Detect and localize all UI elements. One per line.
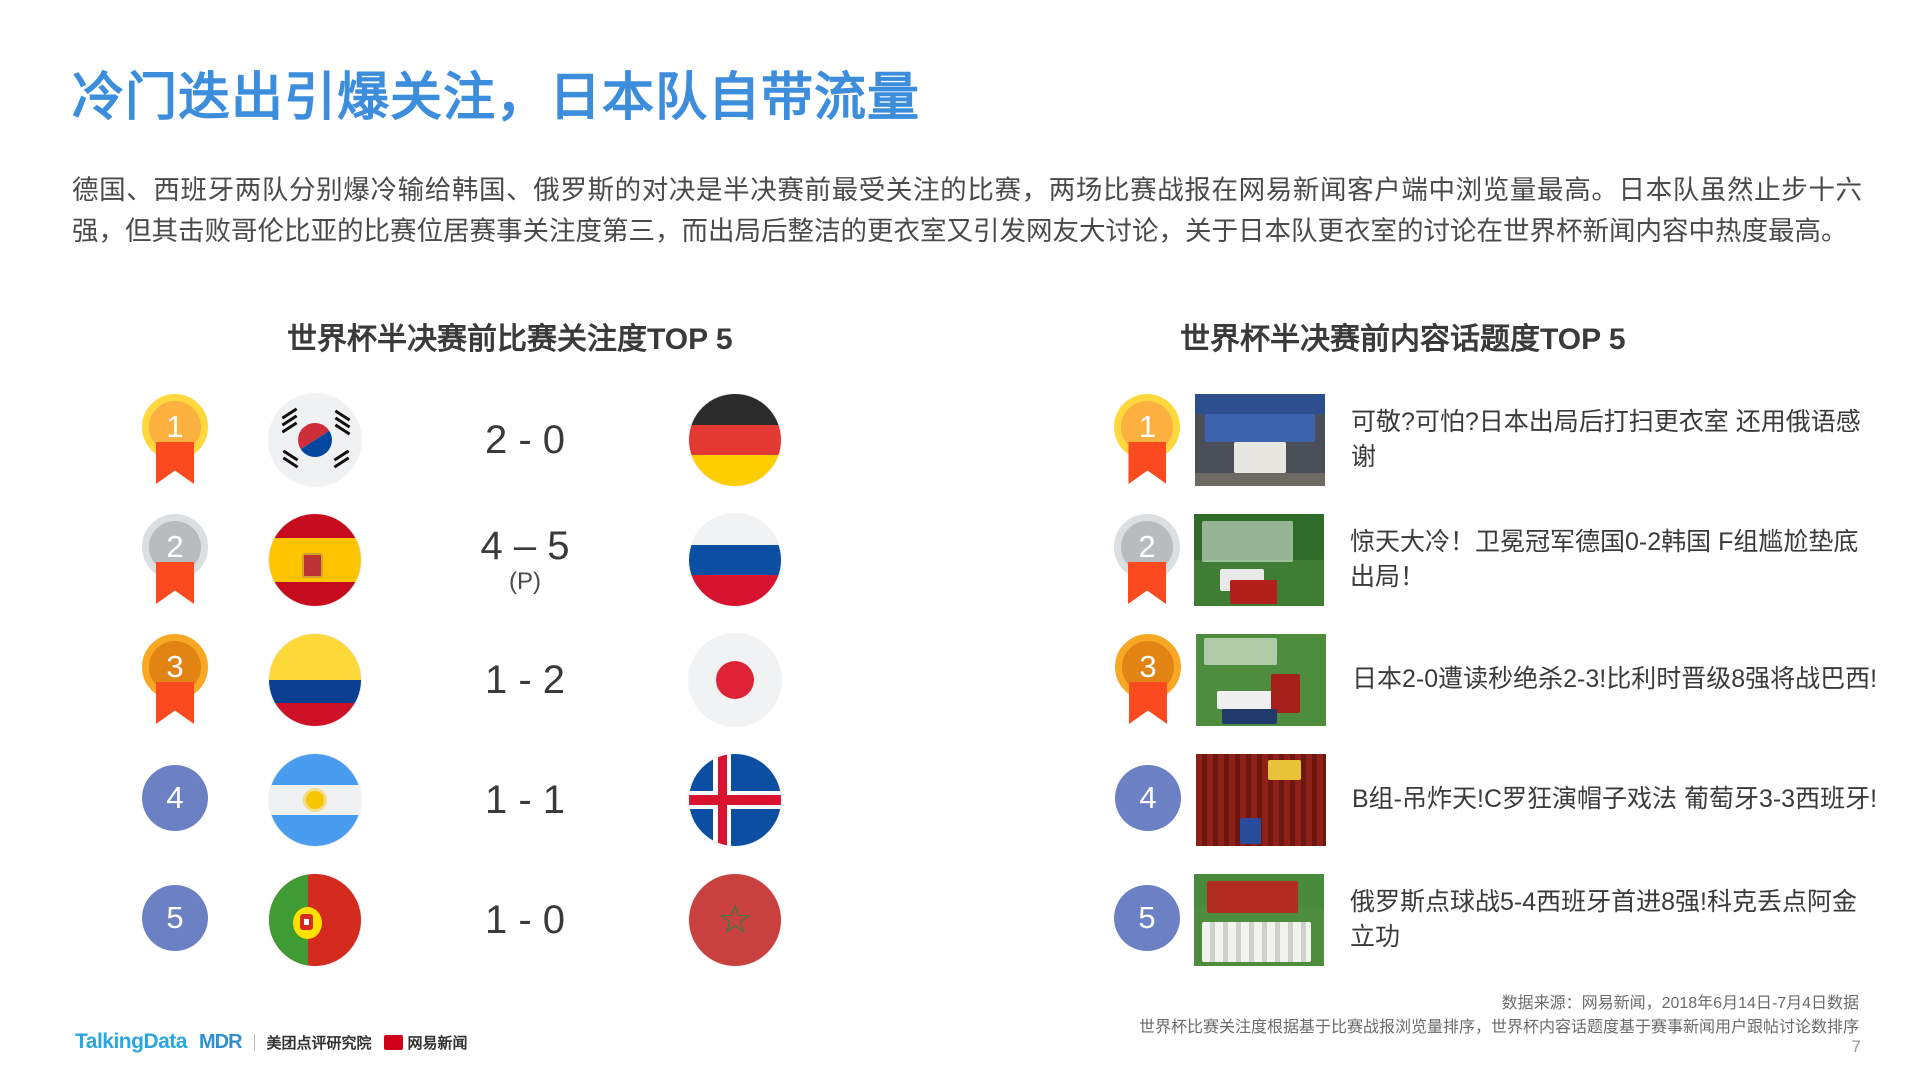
source-line-1: 数据来源：网易新闻，2018年6月14日-7月4日数据 [1139, 992, 1859, 1016]
rank-cell: 5 [1100, 885, 1194, 955]
list-item[interactable]: 5 俄罗斯点球战5-4西班牙首进8强!科克丢点阿金立功 [1100, 860, 1880, 980]
news-thumbnail-players-on-ground[interactable] [1196, 634, 1326, 726]
list-item[interactable]: 2 惊天大冷！卫冕冠军德国0-2韩国 F组尴尬垫底出局！ [1100, 500, 1880, 620]
netease-news-label: 网易新闻 [408, 1032, 468, 1053]
rank-number: 4 [142, 765, 208, 831]
news-thumbnail-team-celebration[interactable] [1194, 874, 1324, 966]
rank-badge-5: 5 [142, 885, 208, 955]
rank-cell: 4 [120, 765, 230, 835]
table-row: 4 1 - 1 [120, 740, 940, 860]
score-cell: 1 - 2 [400, 659, 650, 701]
rank-cell: 2 [1100, 514, 1194, 606]
score-cell: 1 - 1 [400, 779, 650, 821]
score-cell: 4 – 5 (P) [400, 525, 650, 594]
right-column-title: 世界杯半决赛前内容话题度TOP 5 [1180, 314, 1626, 358]
medal-gold-icon: 1 [142, 394, 208, 486]
flag-morocco-icon: ☆ [689, 874, 781, 966]
talkingdata-logo: TalkingData [75, 1030, 187, 1054]
home-flag-cell [230, 874, 400, 966]
rank-cell: 1 [120, 394, 230, 486]
news-title[interactable]: 可敬?可怕?日本出局后打扫更衣室 还用俄语感谢 [1351, 405, 1880, 476]
rank-badge-4: 4 [142, 765, 208, 835]
score-value: 1 - 1 [485, 778, 565, 822]
rank-number: 5 [1114, 885, 1180, 951]
meituan-research-label: 美团点评研究院 [267, 1032, 372, 1053]
flag-japan-icon [689, 634, 781, 726]
rank-cell: 3 [120, 634, 230, 726]
medal-bronze-icon: 3 [142, 634, 208, 726]
spain-crest [302, 553, 323, 578]
rank-number: 5 [142, 885, 208, 951]
rank-cell: 5 [120, 885, 230, 955]
score-note: (P) [400, 569, 650, 594]
rank-number: 4 [1115, 765, 1181, 831]
away-flag-cell [650, 514, 820, 606]
news-thumbnail-goalmouth[interactable] [1194, 514, 1324, 606]
ribbon-icon [156, 562, 194, 604]
rank-cell: 3 [1100, 634, 1196, 726]
medal-bronze-icon: 3 [1115, 634, 1181, 726]
ribbon-icon [1128, 442, 1166, 484]
flag-germany-icon [689, 394, 781, 486]
flag-colombia-icon [269, 634, 361, 726]
list-item[interactable]: 3 日本2-0遭读秒绝杀2-3!比利时晋级8强将战巴西! [1100, 620, 1880, 740]
source-line-2: 世界杯比赛关注度根据基于比赛战报浏览量排序，世界杯内容话题度基于赛事新闻用户跟帖… [1139, 1016, 1859, 1040]
footer-logos: TalkingData MDR 美团点评研究院 网易新闻 [75, 1030, 468, 1054]
match-ranking-list: 1 [120, 380, 940, 980]
score-value: 2 - 0 [485, 418, 565, 462]
netease-news-logo: 网易新闻 [384, 1032, 468, 1053]
rank-badge-5: 5 [1114, 885, 1180, 955]
rank-cell: 2 [120, 514, 230, 606]
score-cell: 1 - 0 [400, 899, 650, 941]
news-title[interactable]: 日本2-0遭读秒绝杀2-3!比利时晋级8强将战巴西! [1352, 662, 1877, 698]
rank-badge-4: 4 [1115, 765, 1181, 835]
table-row: 2 4 – 5 (P) [120, 500, 940, 620]
medal-silver-icon: 2 [1114, 514, 1180, 606]
left-column-title: 世界杯半决赛前比赛关注度TOP 5 [287, 314, 733, 358]
netease-mark-icon [384, 1035, 403, 1050]
ribbon-icon [156, 442, 194, 484]
table-row: 1 [120, 380, 940, 500]
flag-portugal-icon [269, 874, 361, 966]
news-title[interactable]: 俄罗斯点球战5-4西班牙首进8强!科克丢点阿金立功 [1350, 885, 1880, 956]
flag-iceland-icon [689, 754, 781, 846]
ribbon-icon [1128, 562, 1166, 604]
page-number: 7 [1852, 1037, 1861, 1057]
news-thumbnail-red-crowd[interactable] [1196, 754, 1326, 846]
away-flag-cell [650, 394, 820, 486]
news-title[interactable]: B组-吊炸天!C罗狂演帽子戏法 葡萄牙3-3西班牙! [1352, 782, 1877, 818]
table-row: 3 1 - 2 [120, 620, 940, 740]
ribbon-icon [1129, 682, 1167, 724]
news-title[interactable]: 惊天大冷！卫冕冠军德国0-2韩国 F组尴尬垫底出局！ [1350, 525, 1880, 596]
news-thumbnail-locker-room[interactable] [1195, 394, 1325, 486]
rank-cell: 4 [1100, 765, 1196, 835]
taeguk-symbol [291, 416, 338, 463]
score-cell: 2 - 0 [400, 419, 650, 461]
score-value: 1 - 2 [485, 658, 565, 702]
logo-divider [254, 1034, 255, 1051]
flag-spain-icon [269, 514, 361, 606]
home-flag-cell [230, 514, 400, 606]
table-row: 5 1 - 0 ☆ [120, 860, 940, 980]
score-value: 4 – 5 [481, 524, 570, 568]
flag-argentina-icon [269, 754, 361, 846]
medal-silver-icon: 2 [142, 514, 208, 606]
list-item[interactable]: 4 B组-吊炸天!C罗狂演帽子戏法 葡萄牙3-3西班牙! [1100, 740, 1880, 860]
pentagram-icon: ☆ [717, 900, 753, 940]
home-flag-cell [230, 754, 400, 846]
portugal-armillary [293, 907, 322, 939]
medal-gold-icon: 1 [1114, 394, 1180, 486]
source-note: 数据来源：网易新闻，2018年6月14日-7月4日数据 世界杯比赛关注度根据基于… [1139, 992, 1859, 1040]
news-ranking-list: 1 可敬?可怕?日本出局后打扫更衣室 还用俄语感谢 2 [1100, 380, 1880, 980]
ribbon-icon [156, 682, 194, 724]
flag-russia-icon [689, 514, 781, 606]
away-flag-cell: ☆ [650, 874, 820, 966]
rank-cell: 1 [1100, 394, 1195, 486]
lede-paragraph: 德国、西班牙两队分别爆冷输给韩国、俄罗斯的对决是半决赛前最受关注的比赛，两场比赛… [72, 170, 1862, 252]
away-flag-cell [650, 754, 820, 846]
page-title: 冷门迭出引爆关注，日本队自带流量 [72, 55, 920, 130]
slide-root: 冷门迭出引爆关注，日本队自带流量 德国、西班牙两队分别爆冷输给韩国、俄罗斯的对决… [0, 0, 1921, 1080]
sun-of-may-icon [306, 791, 324, 809]
flag-korea-icon [269, 394, 361, 486]
home-flag-cell [230, 634, 400, 726]
score-value: 1 - 0 [485, 898, 565, 942]
mdr-logo: MDR [199, 1031, 242, 1054]
list-item[interactable]: 1 可敬?可怕?日本出局后打扫更衣室 还用俄语感谢 [1100, 380, 1880, 500]
home-flag-cell [230, 394, 400, 486]
away-flag-cell [650, 634, 820, 726]
